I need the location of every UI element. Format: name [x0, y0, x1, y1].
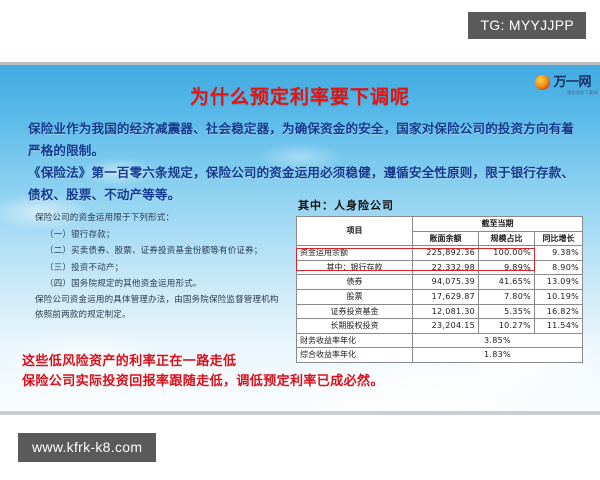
law-item-1: （一）银行存款； [35, 227, 287, 244]
summary-value: 1.83% [413, 348, 583, 363]
row-balance: 12,081.30 [413, 304, 479, 319]
law-item-3: （三）投资不动产； [35, 260, 287, 277]
law-item-2: （二）买卖债券、股票、证券投资基金份额等有价证券； [35, 243, 287, 260]
row-label: 股票 [297, 289, 413, 304]
slide-bottom-divider [0, 411, 600, 415]
row-yoy: 9.38% [535, 246, 583, 261]
header-balance: 账面余额 [413, 231, 479, 246]
intro-paragraph-1: 保险业作为我国的经济减震器、社会稳定器，为确保资金的安全，国家对保险公司的投资方… [28, 118, 576, 162]
table-header-row-top: 项目 截至当期 [297, 217, 583, 232]
watermark-bottom-url: www.kfrk-k8.com [18, 433, 156, 462]
row-yoy: 8.90% [535, 260, 583, 275]
financial-table: 项目 截至当期 账面余额 规模占比 同比增长 资金运用余额 225,892.36… [296, 216, 583, 363]
table-summary-row: 财务收益率年化 3.85% [297, 333, 583, 348]
row-yoy: 11.54% [535, 319, 583, 334]
slide-page: TG: MYYJJPP 万一网 保险资料下载网 为什么预定利率要下调呢 保险业作… [0, 0, 600, 480]
conclusion-line-1: 这些低风险资产的利率正在一路走低 [22, 352, 384, 372]
table-row: 资金运用余额 225,892.36 100.00% 9.38% [297, 246, 583, 261]
table-row: 证券投资基金 12,081.30 5.35% 16.82% [297, 304, 583, 319]
slide-title: 为什么预定利率要下调呢 [0, 82, 600, 109]
row-label: 长期股权投资 [297, 319, 413, 334]
table-caption: 其中：人身险公司 [296, 197, 582, 213]
law-excerpt-box: 保险公司的资金运用限于下列形式： （一）银行存款； （二）买卖债券、股票、证券投… [35, 210, 287, 323]
law-heading: 保险公司的资金运用限于下列形式： [35, 210, 287, 227]
law-tail-paragraph: 保险公司资金运用的具体管理办法，由国务院保险监督管理机构依照前两款的规定制定。 [35, 293, 287, 324]
slide-top-divider [0, 62, 600, 65]
row-yoy: 10.19% [535, 289, 583, 304]
row-share: 5.35% [479, 304, 535, 319]
table-row: 其中：银行存款 22,332.98 9.89% 8.90% [297, 260, 583, 275]
table-row: 长期股权投资 23,204.15 10.27% 11.54% [297, 319, 583, 334]
row-label: 债券 [297, 275, 413, 290]
header-item: 项目 [297, 217, 413, 246]
row-yoy: 16.82% [535, 304, 583, 319]
row-balance: 22,332.98 [413, 260, 479, 275]
row-label: 其中：银行存款 [297, 260, 413, 275]
row-share: 100.00% [479, 246, 535, 261]
row-yoy: 13.09% [535, 275, 583, 290]
row-balance: 23,204.15 [413, 319, 479, 334]
intro-text-block: 保险业作为我国的经济减震器、社会稳定器，为确保资金的安全，国家对保险公司的投资方… [28, 118, 576, 206]
table-row: 股票 17,629.87 7.80% 10.19% [297, 289, 583, 304]
row-label: 资金运用余额 [297, 246, 413, 261]
conclusion-text-block: 这些低风险资产的利率正在一路走低 保险公司实际投资回报率跟随走低，调低预定利率已… [22, 352, 384, 392]
presentation-slide: 万一网 保险资料下载网 为什么预定利率要下调呢 保险业作为我国的经济减震器、社会… [0, 62, 600, 415]
conclusion-line-2: 保险公司实际投资回报率跟随走低，调低预定利率已成必然。 [22, 372, 384, 392]
row-share: 7.80% [479, 289, 535, 304]
header-yoy: 同比增长 [535, 231, 583, 246]
row-label: 证券投资基金 [297, 304, 413, 319]
row-share: 41.65% [479, 275, 535, 290]
row-share: 9.89% [479, 260, 535, 275]
law-item-4: （四）国务院规定的其他资金运用形式。 [35, 276, 287, 293]
header-group-period: 截至当期 [413, 217, 583, 232]
row-share: 10.27% [479, 319, 535, 334]
row-balance: 94,075.39 [413, 275, 479, 290]
financial-table-block: 其中：人身险公司 项目 截至当期 账面余额 规模占比 同比增长 [296, 197, 582, 363]
table-row: 债券 94,075.39 41.65% 13.09% [297, 275, 583, 290]
row-balance: 17,629.87 [413, 289, 479, 304]
header-share: 规模占比 [479, 231, 535, 246]
row-balance: 225,892.36 [413, 246, 479, 261]
summary-label: 财务收益率年化 [297, 333, 413, 348]
summary-value: 3.85% [413, 333, 583, 348]
watermark-top: TG: MYYJJPP [468, 12, 586, 39]
